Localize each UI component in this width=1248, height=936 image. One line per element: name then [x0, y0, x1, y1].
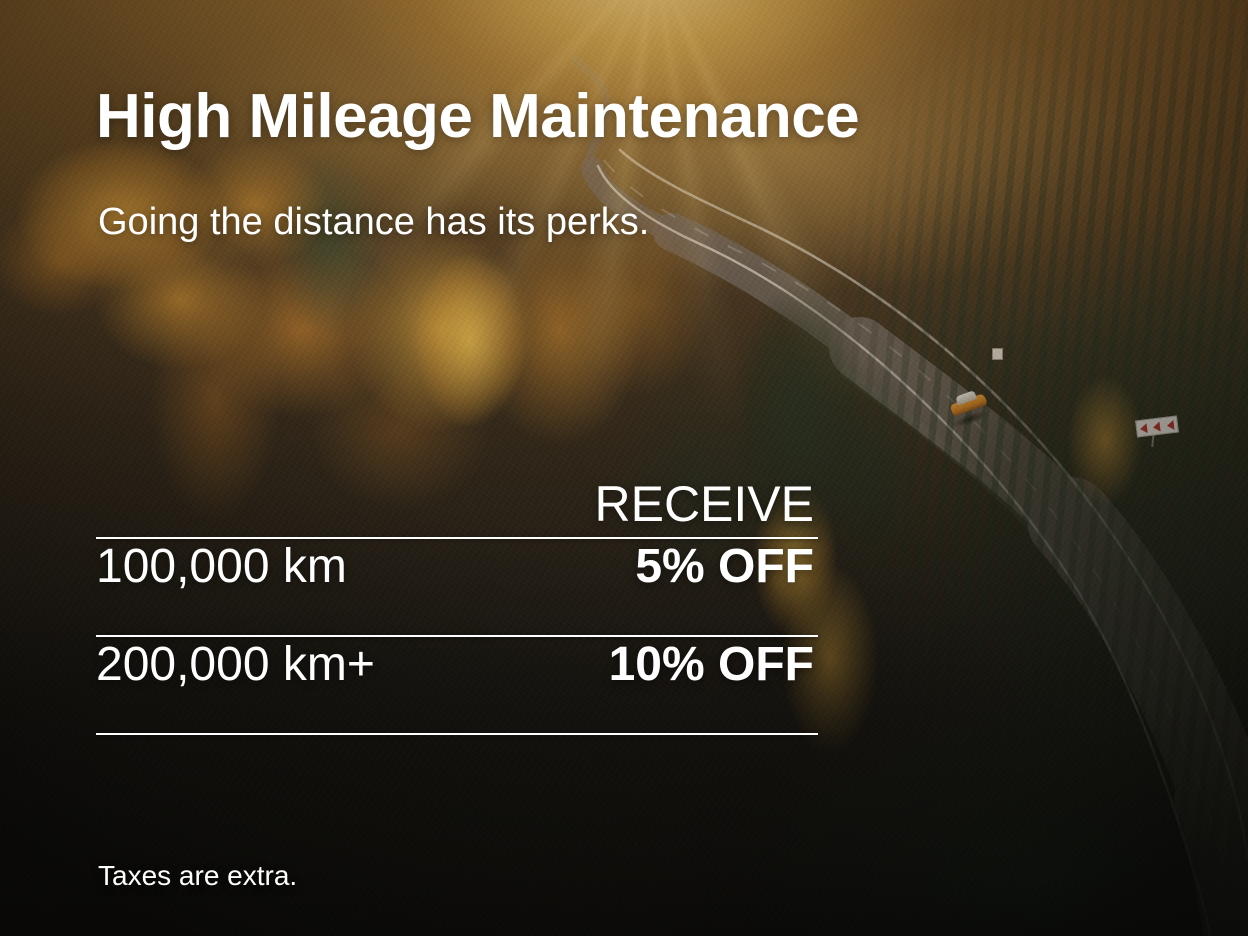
offer-discount: 10% OFF: [609, 641, 818, 689]
table-divider-bottom: [96, 733, 818, 735]
offer-table-header-receive: RECEIVE: [594, 478, 818, 531]
table-row: 200,000 km+ 10% OFF: [96, 637, 818, 733]
offer-mileage: 100,000 km: [96, 543, 347, 591]
offer-mileage: 200,000 km+: [96, 641, 375, 689]
slide-content: High Mileage Maintenance Going the dista…: [0, 0, 1248, 936]
footnote-disclaimer: Taxes are extra.: [98, 860, 297, 892]
offer-discount: 5% OFF: [635, 543, 818, 591]
page-title: High Mileage Maintenance: [96, 84, 859, 149]
offer-table: RECEIVE 100,000 km 5% OFF 200,000 km+ 10…: [96, 478, 818, 735]
table-row: 100,000 km 5% OFF: [96, 539, 818, 635]
promo-slide: High Mileage Maintenance Going the dista…: [0, 0, 1248, 936]
offer-table-header: RECEIVE: [96, 478, 818, 537]
page-subtitle: Going the distance has its perks.: [98, 201, 649, 244]
